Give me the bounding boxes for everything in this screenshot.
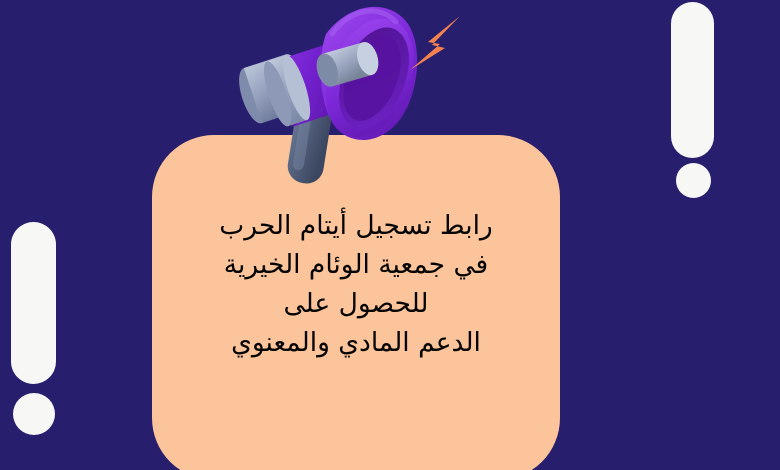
message-line-1: رابط تسجيل أيتام الحرب bbox=[152, 206, 560, 245]
message-line-3: للحصول على bbox=[152, 284, 560, 323]
message-text: رابط تسجيل أيتام الحرب في جمعية الوئام ا… bbox=[152, 206, 560, 362]
lightning-bolt-icon bbox=[404, 12, 466, 74]
message-line-2: في جمعية الوئام الخيرية bbox=[152, 245, 560, 284]
exclamation-bar bbox=[671, 2, 714, 158]
exclamation-dot bbox=[13, 393, 55, 435]
message-line-4: الدعم المادي والمعنوي bbox=[152, 323, 560, 362]
exclamation-mark-icon-right bbox=[655, 0, 735, 205]
announcement-poster: رابط تسجيل أيتام الحرب في جمعية الوئام ا… bbox=[0, 0, 780, 470]
exclamation-bar bbox=[11, 222, 56, 384]
exclamation-mark-icon-left bbox=[0, 215, 80, 450]
exclamation-dot bbox=[676, 163, 711, 198]
